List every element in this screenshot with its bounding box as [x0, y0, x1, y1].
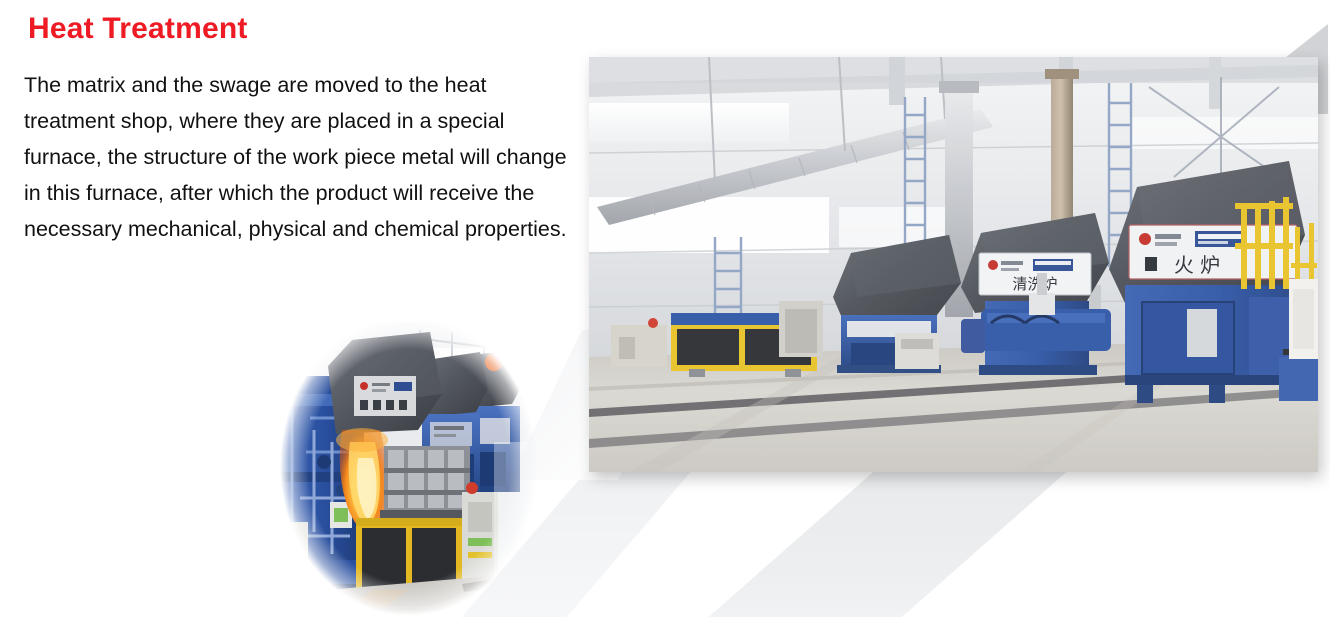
heat-treatment-shop-photo: Heat treatment shop interior with a row …: [589, 57, 1318, 472]
page-title: Heat Treatment: [28, 12, 569, 45]
furnace-flame-circle-photo: Close-up of an open furnace with orange …: [280, 322, 538, 617]
text-column: Heat Treatment The matrix and the swage …: [24, 12, 569, 247]
body-paragraph: The matrix and the swage are moved to th…: [24, 67, 569, 247]
slide-canvas: Heat Treatment The matrix and the swage …: [0, 0, 1330, 617]
chevron-shape-bottom: [660, 460, 1080, 617]
